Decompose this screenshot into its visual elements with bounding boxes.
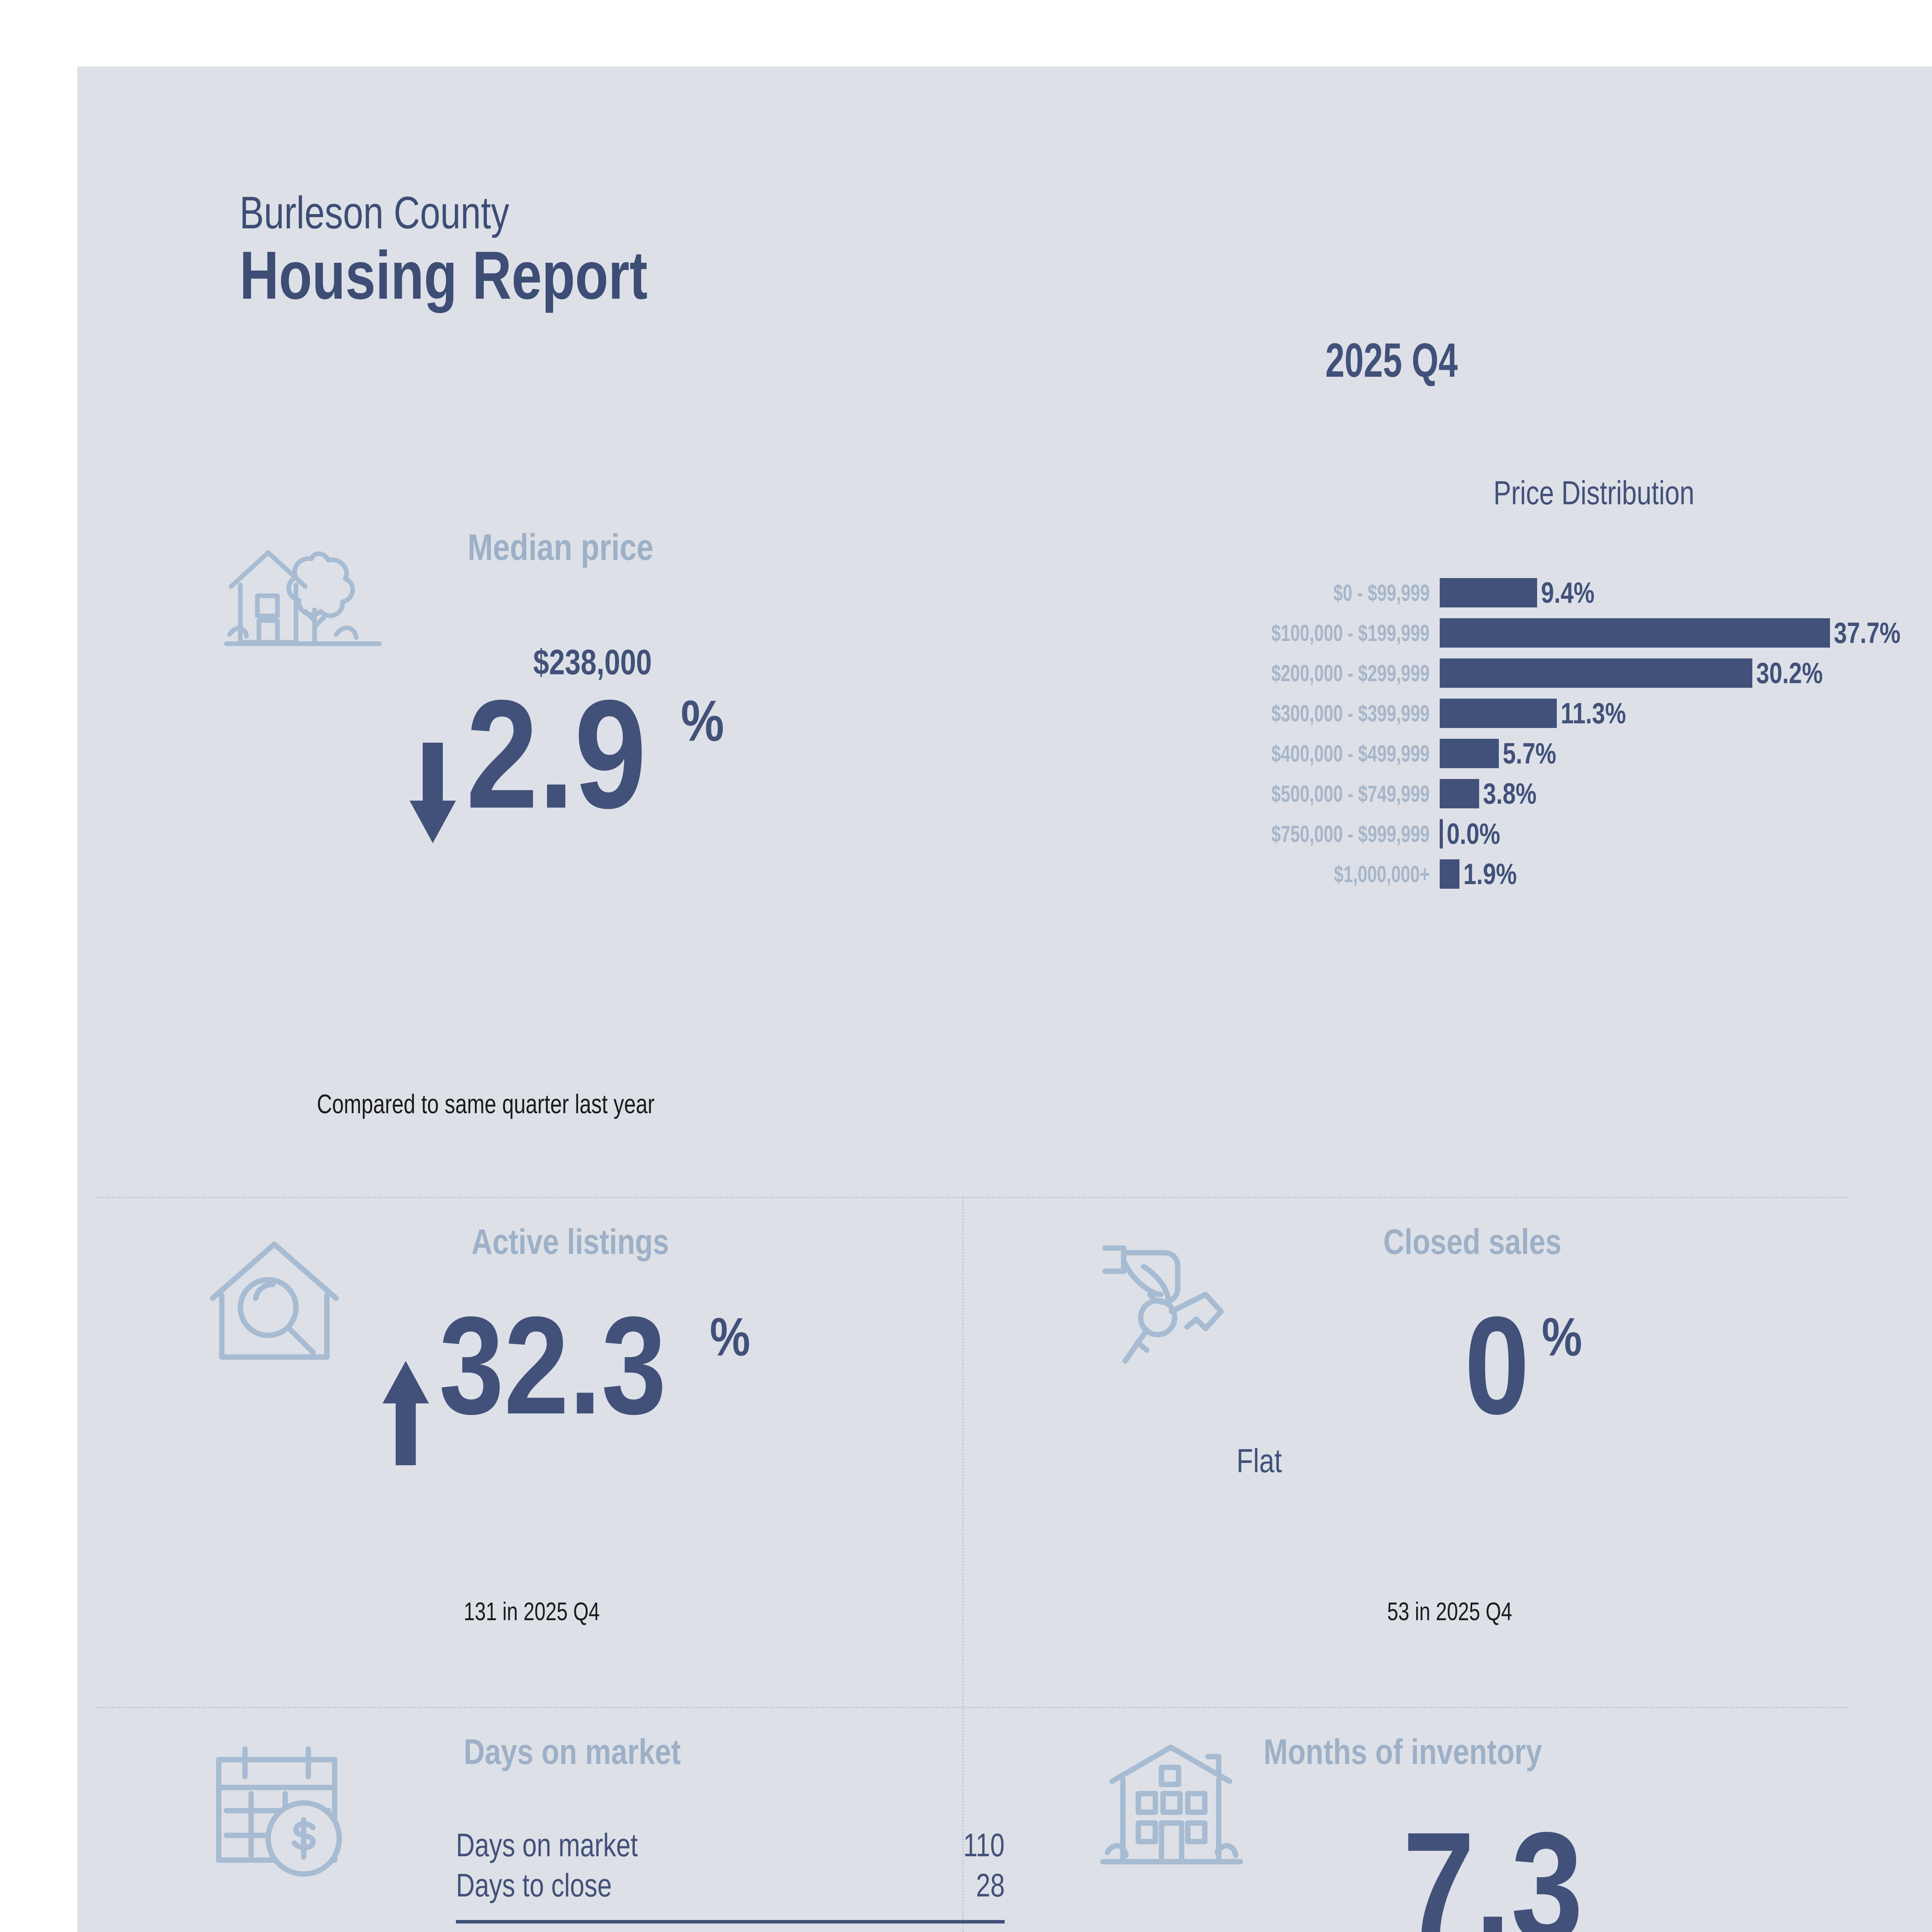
price-distribution-bar-wrap: 11.3% bbox=[1440, 697, 1642, 730]
price-distribution-bar bbox=[1440, 699, 1557, 728]
price-distribution-title: Price Distribution bbox=[1329, 474, 1909, 512]
price-distribution-row: $1,000,000+1.9% bbox=[1213, 854, 1932, 894]
dom-total-label: Total bbox=[456, 1927, 524, 1932]
price-distribution-value: 1.9% bbox=[1463, 857, 1530, 891]
price-distribution-row: $200,000 - $299,99930.2% bbox=[1213, 653, 1932, 693]
days-on-market-heading: Days on market bbox=[464, 1732, 728, 1772]
months-of-inventory-heading: Months of inventory bbox=[1264, 1732, 1603, 1772]
price-distribution-bar-wrap: 0.0% bbox=[1440, 817, 1514, 851]
dom-row-value: 110 bbox=[953, 1827, 1005, 1864]
price-distribution-value: 5.7% bbox=[1503, 737, 1570, 770]
table-row: Days on market 110 bbox=[456, 1827, 1005, 1867]
hand-key-icon bbox=[1097, 1237, 1244, 1376]
closed-sales-change-unit: % bbox=[1542, 1310, 1582, 1364]
price-distribution-bar bbox=[1440, 658, 1752, 688]
price-distribution-value: 0.0% bbox=[1447, 817, 1514, 851]
price-distribution-bar bbox=[1440, 578, 1537, 607]
closed-sales-change-number: 0 bbox=[1464, 1303, 1529, 1428]
price-distribution-bar-wrap: 37.7% bbox=[1440, 616, 1917, 650]
report-title: Housing Report bbox=[240, 241, 1043, 311]
active-listings-footnote-text: 131 in 2025 Q4 bbox=[464, 1597, 600, 1626]
closed-sales-heading-text: Closed sales bbox=[1383, 1222, 1561, 1262]
closed-sales-flat-label: Flat bbox=[1236, 1442, 1292, 1480]
housing-report-page: Burleson County Housing Report 2025 Q4 P… bbox=[0, 0, 1932, 1932]
price-distribution-label: $300,000 - $399,999 bbox=[1213, 700, 1440, 727]
closed-sales-footnote-text: 53 in 2025 Q4 bbox=[1387, 1597, 1512, 1626]
quarter-label: 2025 Q4 bbox=[1325, 333, 1458, 388]
active-listings-change-number: 32.3 bbox=[439, 1303, 667, 1428]
price-distribution-label: $1,000,000+ bbox=[1213, 861, 1440, 888]
median-price-change-unit: % bbox=[681, 692, 724, 750]
price-distribution-value: 37.7% bbox=[1834, 616, 1917, 650]
months-of-inventory-heading-text: Months of inventory bbox=[1264, 1732, 1542, 1772]
price-distribution-value: 11.3% bbox=[1561, 697, 1642, 730]
price-distribution-bar bbox=[1440, 819, 1443, 849]
price-distribution-label: $100,000 - $199,999 bbox=[1213, 620, 1440, 646]
divider-horizontal-2 bbox=[97, 1707, 1851, 1708]
price-distribution-bar-wrap: 30.2% bbox=[1440, 656, 1840, 690]
table-row: Days to close 28 bbox=[456, 1867, 1005, 1907]
price-distribution-bar bbox=[1440, 779, 1479, 808]
closed-sales-heading: Closed sales bbox=[1383, 1222, 1601, 1262]
price-distribution-label: $200,000 - $299,999 bbox=[1213, 660, 1440, 687]
price-distribution-label: $0 - $99,999 bbox=[1213, 580, 1440, 606]
apartment-building-icon bbox=[1094, 1740, 1248, 1879]
dom-row-value: 28 bbox=[969, 1867, 1005, 1904]
price-distribution-bar-wrap: 1.9% bbox=[1440, 857, 1530, 891]
price-distribution-bar bbox=[1440, 739, 1499, 768]
price-distribution-row: $400,000 - $499,9995.7% bbox=[1213, 733, 1932, 774]
closed-sales-change: 0 % bbox=[1464, 1303, 1590, 1428]
months-of-inventory-number: 7.3 bbox=[1403, 1817, 1583, 1932]
dom-row-label: Days on market bbox=[456, 1827, 683, 1864]
months-of-inventory-value: 7.3 bbox=[1403, 1817, 1617, 1932]
house-tree-icon bbox=[220, 519, 386, 665]
median-price-change-number: 2.9 bbox=[466, 685, 646, 824]
table-rule bbox=[456, 1920, 1005, 1923]
active-listings-footnote: 131 in 2025 Q4 bbox=[464, 1597, 638, 1626]
price-distribution-chart: $0 - $99,9999.4%$100,000 - $199,99937.7%… bbox=[1213, 573, 1932, 894]
divider-vertical bbox=[962, 1197, 964, 1932]
median-price-heading: Median price bbox=[468, 526, 694, 569]
price-distribution-bar-wrap: 9.4% bbox=[1440, 576, 1608, 610]
active-listings-heading: Active listings bbox=[471, 1222, 713, 1262]
closed-sales-flat-text: Flat bbox=[1236, 1442, 1282, 1480]
county-name: Burleson County bbox=[240, 190, 1043, 236]
price-distribution-bar-wrap: 3.8% bbox=[1440, 777, 1550, 811]
price-distribution-value: 3.8% bbox=[1483, 777, 1550, 811]
calendar-dollar-icon bbox=[205, 1740, 359, 1879]
active-listings-change: 32.3 % bbox=[383, 1303, 758, 1461]
price-distribution-row: $500,000 - $749,9993.8% bbox=[1213, 774, 1932, 814]
price-distribution-bar bbox=[1440, 859, 1459, 889]
median-price-heading-text: Median price bbox=[468, 526, 653, 569]
dom-total-value: 138 bbox=[951, 1927, 1005, 1932]
price-distribution-label: $400,000 - $499,999 bbox=[1213, 740, 1440, 767]
price-distribution-row: $0 - $99,9999.4% bbox=[1213, 573, 1932, 613]
price-distribution-row: $100,000 - $199,99937.7% bbox=[1213, 613, 1932, 653]
median-price-footnote-text: Compared to same quarter last year bbox=[317, 1088, 655, 1119]
table-total-row: Total 138 bbox=[456, 1927, 1005, 1932]
price-distribution-label: $500,000 - $749,999 bbox=[1213, 781, 1440, 807]
price-distribution-bar-wrap: 5.7% bbox=[1440, 737, 1570, 770]
price-distribution-row: $300,000 - $399,99911.3% bbox=[1213, 693, 1932, 733]
price-distribution-bar bbox=[1440, 618, 1830, 648]
divider-horizontal-1 bbox=[97, 1197, 1851, 1198]
price-distribution-title-text: Price Distribution bbox=[1493, 474, 1694, 512]
active-listings-heading-text: Active listings bbox=[471, 1222, 669, 1262]
price-distribution-value: 9.4% bbox=[1541, 576, 1608, 610]
median-price-change: 2.9 % bbox=[410, 685, 732, 843]
closed-sales-footnote: 53 in 2025 Q4 bbox=[1387, 1597, 1548, 1626]
price-distribution-row: $750,000 - $999,9990.0% bbox=[1213, 814, 1932, 854]
price-distribution-value: 30.2% bbox=[1756, 656, 1840, 690]
arrow-up-icon bbox=[383, 1361, 429, 1461]
median-price-footnote: Compared to same quarter last year bbox=[317, 1088, 750, 1119]
house-magnifier-icon bbox=[197, 1233, 352, 1372]
active-listings-change-unit: % bbox=[710, 1310, 750, 1364]
arrow-down-icon bbox=[410, 743, 456, 843]
price-distribution-label: $750,000 - $999,999 bbox=[1213, 821, 1440, 847]
dom-row-label: Days to close bbox=[456, 1867, 651, 1904]
report-sheet: Burleson County Housing Report 2025 Q4 P… bbox=[77, 66, 1932, 1932]
days-on-market-table: Days on market 110 Days to close 28 Tota… bbox=[456, 1827, 1005, 1932]
days-on-market-heading-text: Days on market bbox=[464, 1732, 681, 1772]
page-title: Burleson County Housing Report bbox=[240, 190, 1244, 311]
